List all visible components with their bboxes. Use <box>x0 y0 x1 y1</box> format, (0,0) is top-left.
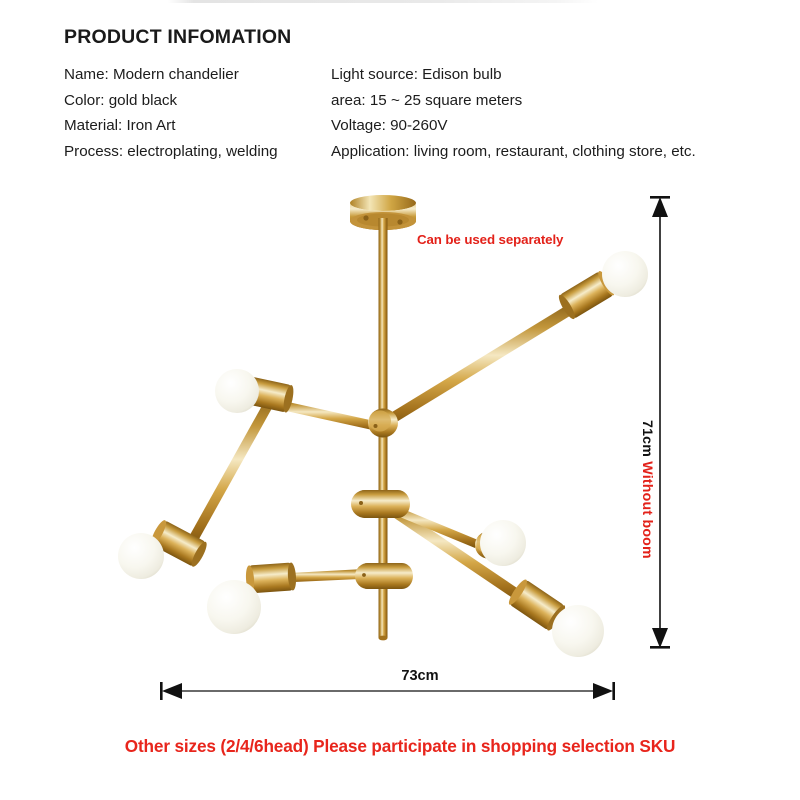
width-dimension-line <box>160 680 615 702</box>
product-info-page: PRODUCT INFOMATION Name: Modern chandeli… <box>0 0 800 800</box>
arrow-right-icon <box>593 683 613 699</box>
bulb-globe <box>207 580 261 634</box>
bulb-top-right <box>556 251 648 321</box>
height-dimension-label: 71cm Without boom <box>639 420 655 559</box>
spec-application: Application: living room, restaurant, cl… <box>331 139 781 165</box>
bulb-globe <box>602 251 648 297</box>
bulb-globe <box>118 533 164 579</box>
spec-color: Color: gold black <box>64 88 334 114</box>
spec-area: area: 15 ~ 25 square meters <box>331 88 781 114</box>
height-note: Without boom <box>639 461 655 559</box>
hub-joint-bottom <box>355 563 413 589</box>
bulb-right-mid <box>480 520 526 566</box>
height-value: 71cm <box>639 420 655 457</box>
annotation-can-be-used-separately: Can be used separately <box>417 232 563 247</box>
bulb-upper-left <box>215 369 295 413</box>
bulb-globe <box>552 605 604 657</box>
bulb-globe <box>480 520 526 566</box>
chandelier-illustration <box>0 170 800 690</box>
bulb-bottom-right <box>506 577 604 657</box>
hub-joint-lower <box>351 490 410 518</box>
spec-voltage: Voltage: 90-260V <box>331 113 781 139</box>
spec-column-left: Name: Modern chandelier Color: gold blac… <box>64 62 334 164</box>
spec-column-right: Light source: Edison bulb area: 15 ~ 25 … <box>331 62 781 164</box>
spec-name: Name: Modern chandelier <box>64 62 334 88</box>
arm-cross-long <box>186 395 276 548</box>
arrow-down-icon <box>652 628 668 648</box>
spec-process: Process: electroplating, welding <box>64 139 334 165</box>
spec-material: Material: Iron Art <box>64 113 334 139</box>
arrow-left-icon <box>162 683 182 699</box>
hub-joint-upper <box>368 409 398 438</box>
arm-upper-right <box>379 302 578 429</box>
bulb-globe <box>215 369 259 413</box>
footer-note: Other sizes (2/4/6head) Please participa… <box>0 736 800 757</box>
arrow-up-icon <box>652 197 668 217</box>
bulb-bottom-left <box>207 562 297 634</box>
page-title: PRODUCT INFOMATION <box>64 26 291 49</box>
top-divider-band <box>168 0 598 3</box>
spec-light-source: Light source: Edison bulb <box>331 62 781 88</box>
